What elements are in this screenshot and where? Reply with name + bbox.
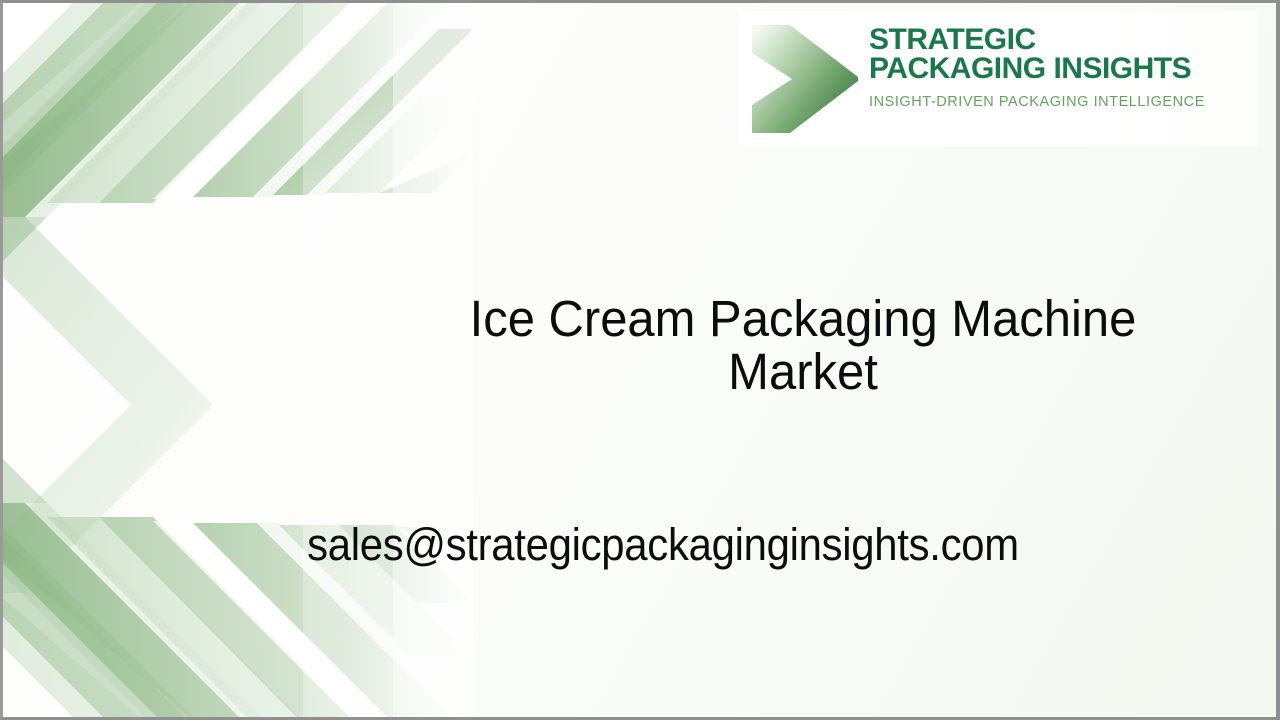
logo-line-1: STRATEGIC xyxy=(869,25,1254,54)
logo-tagline: INSIGHT-DRIVEN PACKAGING INTELLIGENCE xyxy=(869,95,1254,110)
company-logo: STRATEGIC PACKAGING INSIGHTS INSIGHT-DRI… xyxy=(738,11,1258,146)
page-title: Ice Cream Packaging Machine Market xyxy=(390,292,1216,398)
logo-wordmark: STRATEGIC PACKAGING INSIGHTS INSIGHT-DRI… xyxy=(869,25,1254,109)
logo-line-2: PACKAGING INSIGHTS xyxy=(869,54,1254,83)
contact-email: sales@strategicpackaginginsights.com xyxy=(198,520,1128,570)
slide-canvas: STRATEGIC PACKAGING INSIGHTS INSIGHT-DRI… xyxy=(0,0,1280,720)
chevron-right-icon xyxy=(746,19,868,139)
